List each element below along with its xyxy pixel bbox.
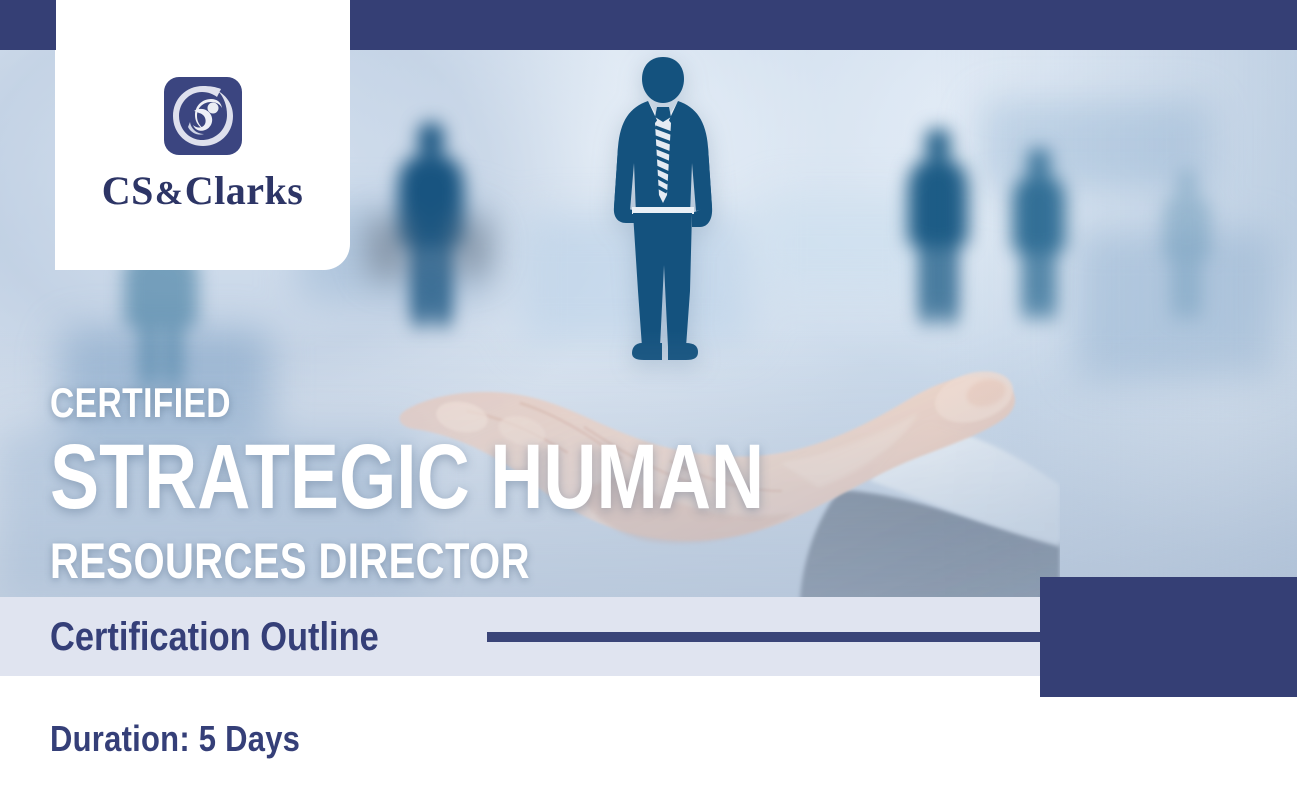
top-left-navy-corner xyxy=(0,0,56,50)
page-title: STRATEGIC HUMAN xyxy=(50,430,764,526)
hero-eyebrow: CERTIFIED xyxy=(50,382,764,424)
brand-logo-card: CS&Clarks xyxy=(55,0,350,270)
section-heading: Certification Outline xyxy=(50,617,379,657)
brand-name-part1: CS xyxy=(102,168,154,213)
certification-cover-page: CS&Clarks CERTIFIED STRATEGIC HUMAN RESO… xyxy=(0,0,1297,793)
right-navy-block xyxy=(1040,577,1297,697)
section-rule-divider xyxy=(487,632,1043,642)
brand-name-part2: Clarks xyxy=(185,168,304,213)
brand-ampersand: & xyxy=(154,175,185,212)
hero-title-stack: CERTIFIED STRATEGIC HUMAN RESOURCES DIRE… xyxy=(50,382,943,586)
brand-wordmark: CS&Clarks xyxy=(102,171,304,211)
hero-subtitle: RESOURCES DIRECTOR xyxy=(50,536,764,586)
cs-clarks-swirl-logo-icon xyxy=(164,77,242,155)
duration-text: Duration: 5 Days xyxy=(50,721,300,757)
